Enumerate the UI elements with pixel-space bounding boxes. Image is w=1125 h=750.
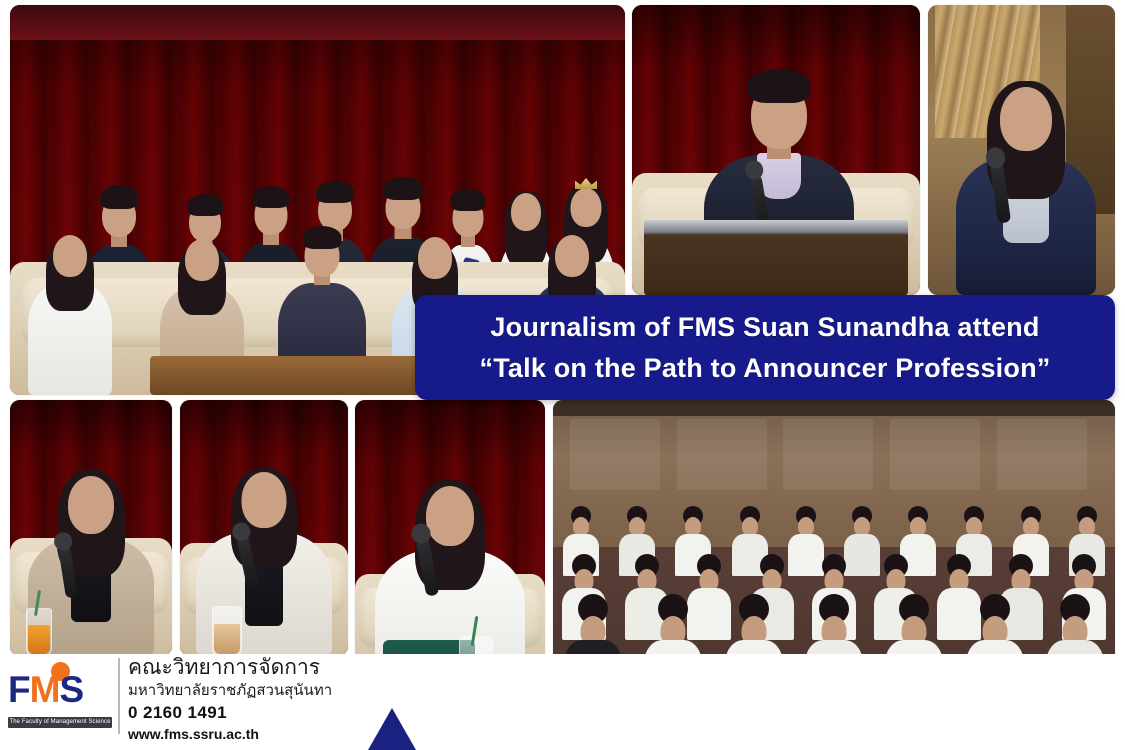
coffee-table xyxy=(150,356,445,395)
wall-panel xyxy=(997,419,1087,489)
title-line-1: Journalism of FMS Suan Sunandha attend xyxy=(490,307,1039,348)
male-panelist-scene xyxy=(180,400,348,656)
person-female-guest-1 xyxy=(956,45,1096,295)
logo-tagline: The Faculty of Management Science xyxy=(8,717,112,728)
wall-panel xyxy=(570,419,660,489)
podium xyxy=(644,220,909,295)
title-line-2: “Talk on the Path to Announcer Professio… xyxy=(480,348,1051,389)
triangle-up-icon xyxy=(368,708,416,750)
photo-female-guest-1 xyxy=(928,5,1115,295)
speaker-podium-scene xyxy=(632,5,920,295)
wall-panel xyxy=(677,419,767,489)
curtain-valance xyxy=(10,5,625,40)
drink-cup xyxy=(212,606,242,656)
logo-wordmark: FMS xyxy=(8,670,112,710)
footer-divider xyxy=(118,658,120,734)
ceiling-band xyxy=(553,400,1115,416)
poster-canvas: Journalism of FMS Suan Sunandha attend “… xyxy=(0,0,1125,750)
wall-panel xyxy=(890,419,980,489)
faculty-name-th: คณะวิทยาการจัดการ xyxy=(128,654,332,680)
person-front-1 xyxy=(28,217,112,395)
logo-letter-s: S xyxy=(59,669,83,710)
title-banner: Journalism of FMS Suan Sunandha attend “… xyxy=(415,295,1115,400)
footer-contact-block: คณะวิทยาการจัดการ มหาวิทยาลัยราชภัฏสวนสุ… xyxy=(128,654,332,744)
female-guest-1-scene xyxy=(928,5,1115,295)
photo-female-guest-2 xyxy=(10,400,172,656)
university-name-th: มหาวิทยาลัยราชภัฏสวนสุนันทา xyxy=(128,680,332,701)
female-guest-2-scene xyxy=(10,400,172,656)
photo-female-guest-3 xyxy=(355,400,545,690)
drink-cup xyxy=(26,608,52,656)
female-guest-3-scene xyxy=(355,400,545,690)
crown-icon xyxy=(575,178,597,189)
fms-logo: FMS The Faculty of Management Science xyxy=(8,662,112,728)
phone-number: 0 2160 1491 xyxy=(128,701,332,725)
photo-male-panelist xyxy=(180,400,348,656)
website-url[interactable]: www.fms.ssru.ac.th xyxy=(128,725,332,744)
footer: FMS The Faculty of Management Science คณ… xyxy=(0,654,1125,750)
logo-letter-m: M xyxy=(30,669,60,710)
logo-letter-f: F xyxy=(8,669,30,710)
photo-speaker-podium xyxy=(632,5,920,295)
wall-panel xyxy=(783,419,873,489)
